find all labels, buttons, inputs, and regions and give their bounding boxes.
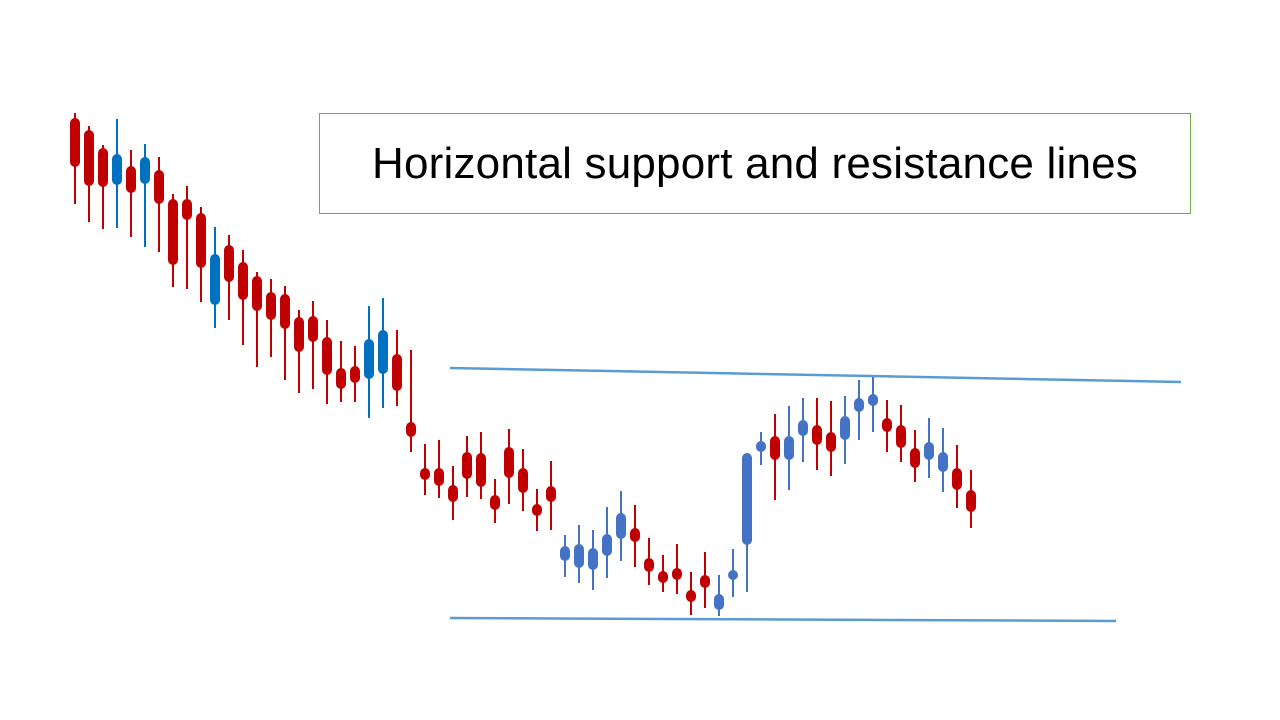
candle: [504, 429, 514, 504]
candle: [868, 376, 878, 432]
candle: [686, 572, 696, 615]
candle: [140, 144, 150, 247]
candle: [882, 400, 892, 452]
candle: [238, 250, 248, 345]
candle: [84, 126, 94, 222]
candle: [308, 301, 318, 389]
candle: [392, 330, 402, 406]
candle: [168, 194, 178, 287]
trend-lines-layer: [450, 368, 1181, 621]
candle: [266, 279, 276, 357]
candle: [630, 505, 640, 567]
candle: [854, 380, 864, 440]
candle: [490, 479, 500, 523]
candle: [336, 341, 346, 402]
candle: [952, 445, 962, 508]
candle: [196, 207, 206, 302]
candle: [448, 466, 458, 520]
candle: [924, 418, 934, 478]
page-title: Horizontal support and resistance lines: [372, 142, 1138, 186]
title-box: Horizontal support and resistance lines: [319, 113, 1191, 214]
candle: [616, 491, 626, 561]
candle: [518, 449, 528, 511]
candle: [588, 530, 598, 590]
candle: [910, 430, 920, 482]
candle: [182, 186, 192, 289]
candle: [364, 306, 374, 418]
candle: [462, 436, 472, 497]
candle: [406, 350, 416, 452]
candle: [714, 575, 724, 616]
chart-canvas: Horizontal support and resistance lines: [0, 0, 1280, 720]
candle: [966, 470, 976, 528]
candle: [798, 398, 808, 462]
candle: [784, 406, 794, 490]
candle: [938, 428, 948, 492]
candle: [322, 320, 332, 404]
candle: [672, 544, 682, 594]
candle: [224, 235, 234, 320]
candle: [126, 150, 136, 237]
candle: [574, 525, 584, 583]
candle: [560, 535, 570, 577]
candle: [770, 414, 780, 500]
candle: [546, 461, 556, 530]
candlestick-chart: [0, 0, 1280, 720]
candle: [378, 298, 388, 408]
candle: [532, 489, 542, 531]
support-line: [450, 618, 1116, 621]
candle: [700, 552, 710, 608]
candle: [420, 444, 430, 495]
candle: [896, 405, 906, 462]
candle: [728, 549, 738, 597]
candle: [252, 272, 262, 367]
candle: [756, 432, 766, 465]
candle: [476, 432, 486, 499]
candle: [434, 440, 444, 498]
candle: [350, 346, 360, 402]
candle: [70, 113, 80, 204]
candle: [742, 453, 752, 592]
candle: [602, 507, 612, 578]
resistance-line: [450, 368, 1181, 382]
candle: [658, 555, 668, 592]
candle: [294, 310, 304, 393]
candle: [812, 398, 822, 470]
candle: [112, 119, 122, 228]
candle: [826, 401, 836, 476]
candle: [98, 145, 108, 229]
candle: [644, 538, 654, 585]
candle: [840, 396, 850, 464]
candle: [210, 227, 220, 328]
candle: [154, 157, 164, 252]
candle: [280, 286, 290, 380]
